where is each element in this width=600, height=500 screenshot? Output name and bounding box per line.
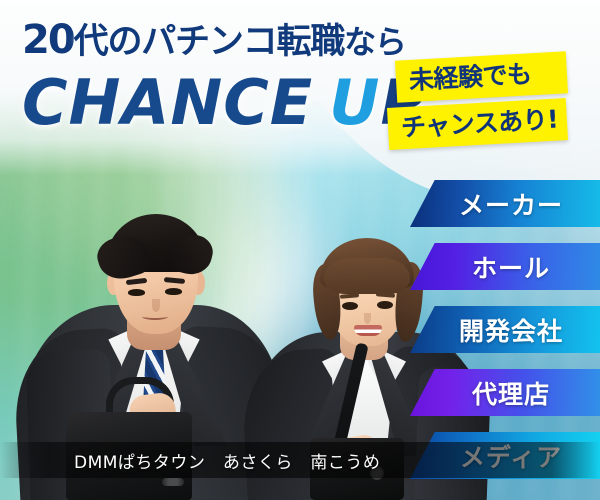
female-eye-right (377, 301, 393, 309)
headline: 20代のパチンコ転職なら (22, 20, 406, 60)
credit-text: DMMぱちタウン あさくら 南こうめ (0, 448, 380, 473)
category-label: 代理店 (460, 375, 550, 411)
male-briefcase-clasp (162, 478, 184, 486)
category-label: メーカー (447, 186, 563, 222)
female-eye-left (342, 302, 358, 310)
male-nose (152, 299, 160, 312)
experience-badge: 未経験でも チャンスあり! (396, 56, 567, 145)
logo-word-chance: CHANCE (22, 66, 313, 139)
category-item-maker[interactable]: メーカー (410, 180, 600, 227)
category-item-agency[interactable]: 代理店 (410, 369, 600, 416)
male-eye-right (165, 288, 182, 295)
credit-bar: DMMぱちタウン あさくら 南こうめ (0, 442, 600, 478)
badge-line-2: チャンスあり! (387, 98, 568, 150)
logo-letter-u: U (329, 66, 380, 139)
headline-body: 代のパチンコ転職 (74, 22, 344, 62)
male-eye-left (128, 289, 145, 296)
category-label: 開発会社 (447, 312, 563, 348)
headline-number: 20 (22, 17, 74, 63)
category-label: ホール (460, 249, 550, 285)
female-nose (364, 313, 371, 324)
promo-banner: 20代のパチンコ転職なら CHANCEUP 未経験でも チャンスあり! メーカー… (0, 0, 600, 500)
chance-up-logo: CHANCEUP (22, 72, 427, 134)
category-item-development[interactable]: 開発会社 (410, 306, 600, 353)
female-bangs (324, 258, 410, 294)
category-item-hall[interactable]: ホール (410, 243, 600, 290)
badge-line-1: 未経験でも (395, 51, 568, 102)
female-mouth (354, 325, 382, 336)
male-mouth (142, 313, 168, 320)
